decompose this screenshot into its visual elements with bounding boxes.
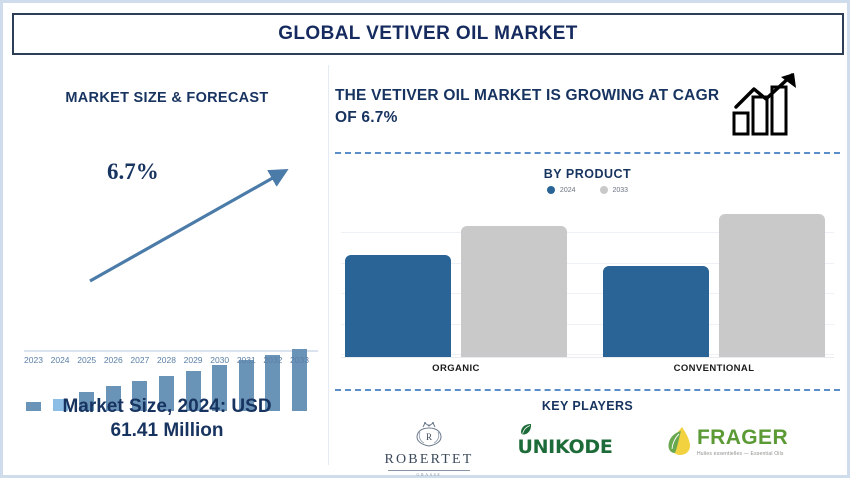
forecast-year-label: 2028 — [154, 355, 180, 365]
robertet-name: ROBERTET — [363, 452, 495, 468]
by-product-chart — [341, 205, 834, 357]
product-bar — [461, 226, 567, 357]
unikode-name: UNIKODE — [495, 436, 635, 458]
robertet-rule — [388, 470, 470, 471]
legend-dot — [547, 186, 555, 194]
forecast-year-label: 2027 — [127, 355, 153, 365]
forecast-year-label: 2029 — [180, 355, 206, 365]
product-category-label: CONVENTIONAL — [603, 363, 825, 374]
market-size-line-2: 61.41 Million — [111, 420, 224, 441]
forecast-year-label: 2031 — [233, 355, 259, 365]
unikode-leaf-icon — [519, 423, 533, 436]
market-size-forecast-panel: MARKET SIZE & FORECAST 6.7% 202320242025… — [12, 59, 322, 469]
forecast-year-label: 2023 — [21, 355, 47, 365]
legend-dot — [600, 186, 608, 194]
frager-subtitle: Huiles essentielles — Essential Oils — [697, 451, 788, 457]
robertet-subtitle: GRASSE — [363, 472, 495, 477]
bar-chart-growth-icon — [732, 71, 802, 137]
page-title-box: GLOBAL VETIVER OIL MARKET — [12, 13, 844, 55]
logo-frager: FRAGER Huiles essentielles — Essential O… — [635, 425, 820, 457]
svg-text:R: R — [426, 432, 432, 442]
forecast-year-label: 2030 — [207, 355, 233, 365]
growth-arrow-icon — [12, 119, 322, 359]
market-size-line-1: Market Size, 2024: USD — [62, 396, 271, 417]
robertet-crest-icon: R — [409, 421, 449, 447]
product-category-label: ORGANIC — [345, 363, 567, 374]
market-size-value: Market Size, 2024: USD 61.41 Million — [12, 395, 322, 443]
forecast-year-labels: 2023202420252026202720282029203020312032… — [24, 355, 320, 371]
forecast-year-label: 2024 — [47, 355, 73, 365]
legend-item: 2033 — [600, 186, 629, 194]
forecast-year-label: 2025 — [74, 355, 100, 365]
forecast-year-label: 2033 — [287, 355, 313, 365]
divider-dashed-top — [335, 152, 840, 154]
market-size-forecast-heading: MARKET SIZE & FORECAST — [12, 90, 322, 106]
legend-item: 2024 — [547, 186, 576, 194]
legend-label: 2024 — [560, 187, 576, 194]
divider-dashed-bottom — [335, 389, 840, 391]
key-players-title: KEY PLAYERS — [335, 399, 840, 413]
frager-leaf-drop-icon — [667, 425, 693, 457]
forecast-year-label: 2026 — [100, 355, 126, 365]
logo-robertet: R ROBERTET GRASSE — [363, 421, 495, 477]
legend-label: 2033 — [613, 187, 629, 194]
panel-divider — [328, 65, 329, 465]
page-title: GLOBAL VETIVER OIL MARKET — [278, 23, 578, 45]
infographic-page: GLOBAL VETIVER OIL MARKET MARKET SIZE & … — [0, 0, 850, 478]
by-product-legend: 20242033 — [335, 186, 840, 194]
cagr-headline: THE VETIVER OIL MARKET IS GROWING AT CAG… — [335, 85, 735, 130]
by-product-title: BY PRODUCT — [335, 167, 840, 181]
frager-name: FRAGER — [697, 426, 788, 450]
product-bar — [719, 214, 825, 357]
key-players-logos: R ROBERTET GRASSE UNIKODE — [335, 421, 840, 477]
by-product-baseline — [341, 357, 834, 358]
right-panel: THE VETIVER OIL MARKET IS GROWING AT CAG… — [335, 59, 840, 471]
logo-unikode: UNIKODE — [495, 423, 635, 458]
product-bar — [345, 255, 451, 357]
product-bar — [603, 266, 709, 357]
forecast-year-label: 2032 — [260, 355, 286, 365]
